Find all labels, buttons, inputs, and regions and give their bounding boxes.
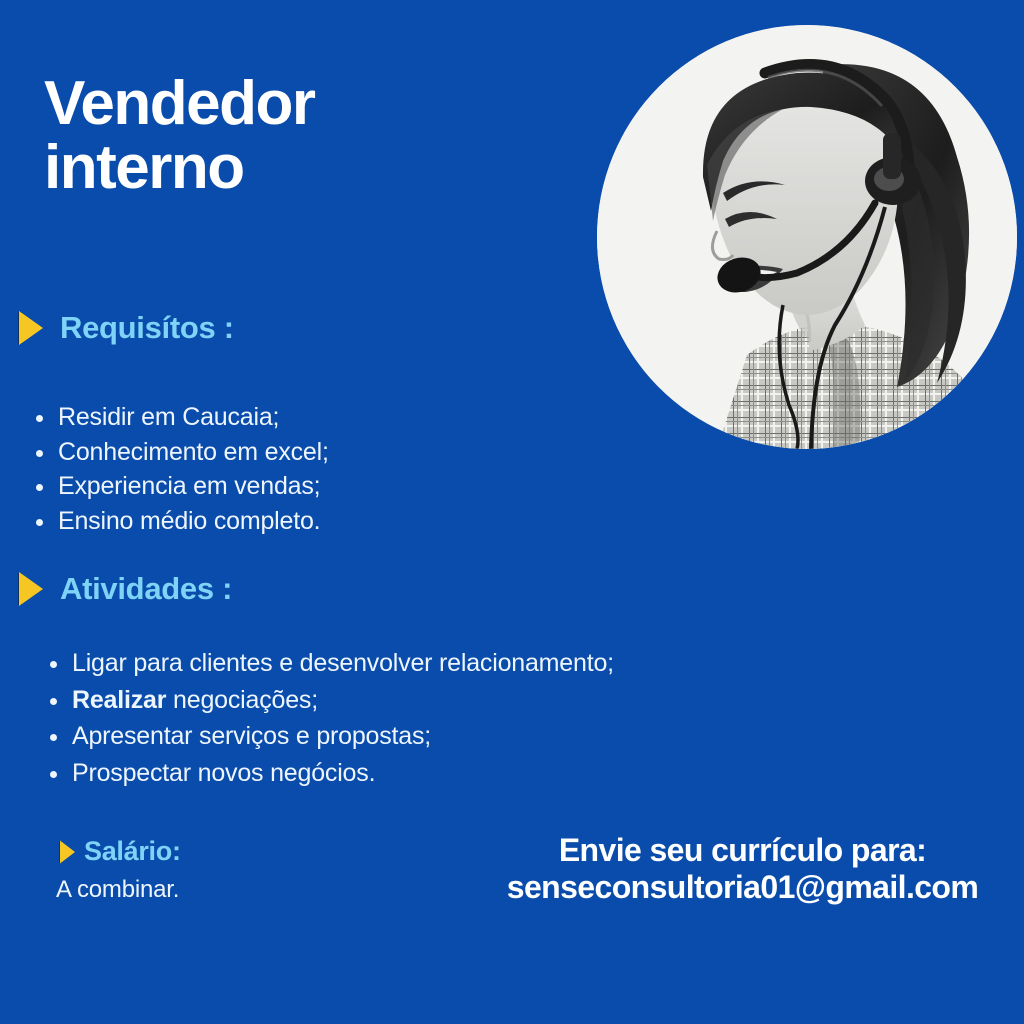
list-item-text: Prospectar novos negócios. [72,759,375,787]
list-item: Conhecimento em excel; [30,437,329,468]
page-title-line-1: Vendedor [44,72,584,136]
triangle-right-icon [58,839,77,865]
list-item: Realizar negociações; [44,685,614,716]
section-heading-requisitos: Requisítos : [16,309,234,347]
triangle-right-icon [16,309,46,347]
list-item: Experiencia em vendas; [30,471,329,502]
list-item: Ligar para clientes e desenvolver relaci… [44,648,614,679]
cta-email[interactable]: senseconsultoria01@gmail.com [470,869,1015,906]
salary-value: A combinar. [56,876,179,904]
cta-block: Envie seu currículo para: senseconsultor… [470,832,1015,906]
list-item: Residir em Caucaia; [30,402,329,433]
section-heading-atividades: Atividades : [16,570,232,608]
list-item-text: Ligar para clientes e desenvolver relaci… [72,649,614,677]
list-item-text: negociações; [166,686,318,714]
section-heading-salario-label: Salário: [84,836,181,867]
agent-photo [597,25,1017,449]
headset-agent-photo-illustration [597,25,1017,449]
requisitos-list: Residir em Caucaia; Conhecimento em exce… [30,402,329,540]
list-item: Prospectar novos negócios. [44,758,614,789]
list-item-text: Apresentar serviços e propostas; [72,722,431,750]
section-heading-salario: Salário: [58,836,181,867]
page-title: Vendedor interno [44,72,584,200]
section-heading-requisitos-label: Requisítos : [60,310,234,346]
list-item: Apresentar serviços e propostas; [44,721,614,752]
job-posting-poster: Vendedor interno Requisítos : Residir em… [0,0,1024,1024]
cta-instruction: Envie seu currículo para: [470,832,1015,869]
list-item-emphasis: Realizar [72,686,166,714]
page-title-line-2: interno [44,136,584,200]
list-item: Ensino médio completo. [30,506,329,537]
atividades-list: Ligar para clientes e desenvolver relaci… [44,648,614,794]
triangle-right-icon [16,570,46,608]
section-heading-atividades-label: Atividades : [60,571,232,607]
